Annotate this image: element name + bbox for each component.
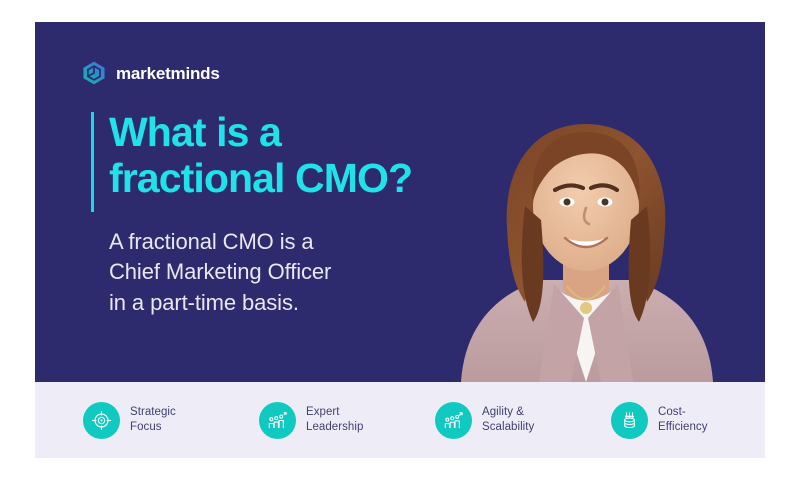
brand-logo[interactable]: marketminds [81,60,220,86]
feature-label: Cost- Efficiency [658,405,708,435]
feature-label: Agility & Scalability [482,405,534,435]
feature-bar: Strategic Focus Expert Leadership [35,382,765,458]
feature-item-agility-scalability[interactable]: Agility & Scalability [413,402,589,439]
growth-people-icon [435,402,472,439]
team-people-icon [259,402,296,439]
accent-bar [91,112,94,212]
feature-label: Expert Leadership [306,405,363,435]
brand-wordmark: marketminds [116,65,220,82]
slide-canvas: marketminds What is a fractional CMO? A … [0,0,800,480]
feature-label: Strategic Focus [130,405,176,435]
feature-item-expert-leadership[interactable]: Expert Leadership [237,402,413,439]
subtitle: A fractional CMO is a Chief Marketing Of… [109,227,331,318]
feature-item-strategic-focus[interactable]: Strategic Focus [35,402,237,439]
target-crosshair-icon [83,402,120,439]
cube-logo-icon [81,60,107,86]
coin-stack-icon [611,402,648,439]
slide-card: marketminds What is a fractional CMO? A … [35,22,765,458]
feature-item-cost-efficiency[interactable]: Cost- Efficiency [589,402,765,439]
headline-block: What is a fractional CMO? [91,110,412,202]
hero-panel: marketminds What is a fractional CMO? A … [35,22,765,382]
page-title: What is a fractional CMO? [109,110,412,202]
portrait-photo [421,90,751,382]
